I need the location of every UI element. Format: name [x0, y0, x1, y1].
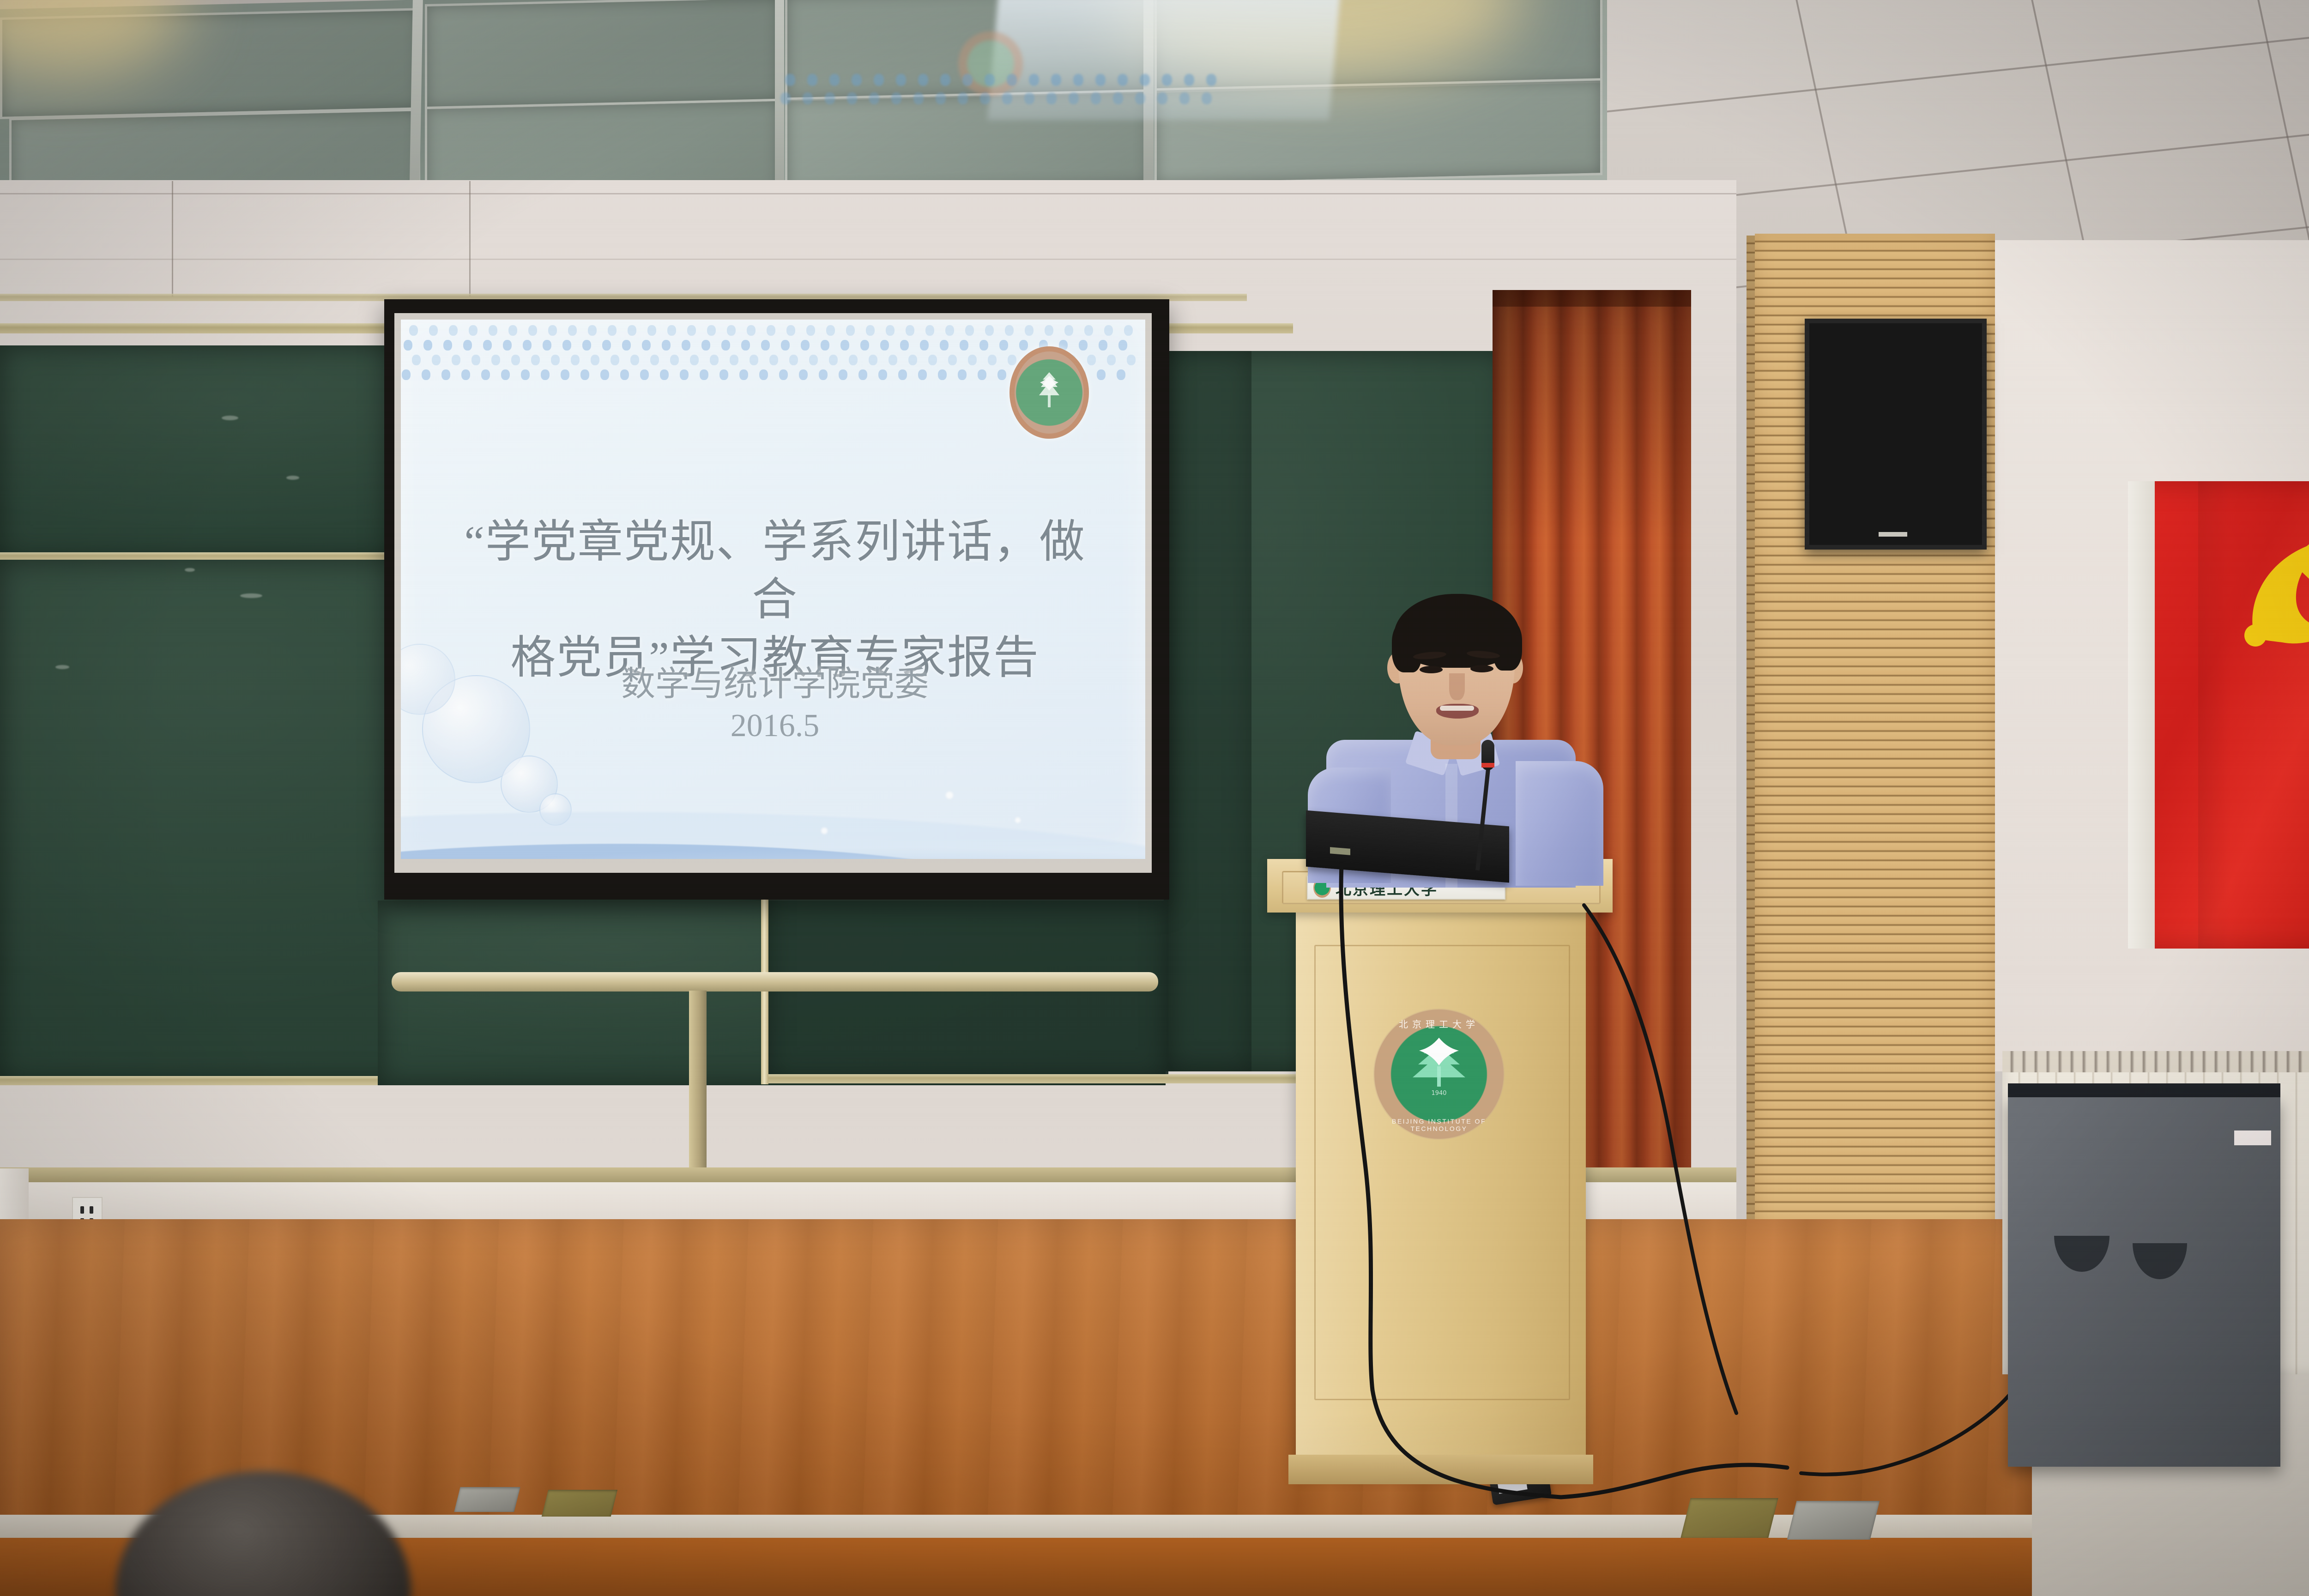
microphone-indicator-ring: [1481, 763, 1494, 768]
presentation-slide: “学党章党规、学系列讲话，做合 格党员”学习教育专家报告 数学与统计学院党委 2…: [401, 320, 1145, 859]
chalk-mark: [55, 665, 69, 669]
svg-text:1940: 1940: [1431, 1090, 1446, 1097]
slide-sparkle: [1015, 817, 1021, 823]
projection-screen-roller-bar[interactable]: [392, 972, 1158, 991]
speaker-eye-left: [1420, 666, 1443, 673]
speaker-hair-side-right: [1493, 621, 1522, 671]
projection-screen-surface: “学党章党规、学系列讲话，做合 格党员”学习教育专家报告 数学与统计学院党委 2…: [394, 313, 1152, 873]
pine-dove-glyph: 1940: [1404, 1029, 1474, 1103]
wall-panel-joint-right: [469, 181, 471, 296]
equipment-asset-label: [2234, 1130, 2271, 1145]
projected-dots-reflection-2: [780, 92, 1212, 104]
floor-outlet-left[interactable]: [454, 1487, 520, 1512]
podium-emblem-cn-text: 北京理工大学: [1374, 1017, 1504, 1030]
flag-fold-shadow-1: [2198, 481, 2230, 949]
hammer-and-sickle-icon: [2226, 530, 2309, 669]
hk-wall-speaker: [1805, 319, 1987, 550]
bit-podium-emblem-icon: 北京理工大学 BEIJING INSTITUTE OF TECHNOLOGY 1…: [1374, 1010, 1504, 1139]
floor-outlet-left-2[interactable]: [542, 1490, 617, 1517]
equipment-case: [2008, 1097, 2280, 1467]
wall-panel-joint-left: [172, 181, 173, 296]
speaker-shoulder-right: [1516, 761, 1603, 886]
flag-hoist-strip: [2128, 481, 2155, 949]
podium-emblem-en-text: BEIJING INSTITUTE OF TECHNOLOGY: [1374, 1118, 1504, 1132]
chalk-mark: [240, 593, 262, 598]
slide-wave-decoration-2: [401, 771, 1145, 859]
podium-base: [1288, 1455, 1593, 1484]
bit-emblem-icon: [1009, 346, 1089, 439]
projected-dots-reflection: [785, 74, 1216, 86]
lecture-hall-photo: QSC: [0, 0, 2309, 1596]
floor-outlet-right[interactable]: [1787, 1501, 1880, 1540]
slide-date: 2016.5: [447, 707, 1103, 744]
slide-sparkle: [821, 828, 828, 834]
curtain-rod-shadow: [1493, 290, 1691, 307]
slide-subtitle: 数学与统计学院党委: [447, 661, 1103, 708]
speaker-nose: [1449, 673, 1465, 700]
blackboard-right-shadowed: [1168, 351, 1251, 1071]
floor-outlet-center[interactable]: [1680, 1498, 1778, 1538]
pine-dove-glyph: [1028, 368, 1070, 417]
speaker-eye-right: [1470, 665, 1493, 672]
chalk-mark: [185, 568, 195, 572]
speaker-hair-side-left: [1392, 622, 1421, 672]
radiator-top-caps: [2002, 1051, 2309, 1072]
wall-seam-2: [0, 259, 1736, 260]
slide-title-line-1: “学党章党规、学系列讲话，做合: [447, 514, 1103, 629]
case-handle-right: [2133, 1243, 2187, 1279]
chalk-mark: [286, 476, 299, 480]
chalk-mark: [222, 416, 238, 420]
case-handle-left: [2054, 1236, 2110, 1272]
slide-sparkle: [946, 792, 953, 799]
speaker-teeth: [1440, 706, 1474, 711]
projection-screen: “学党章党规、学系列讲话，做合 格党员”学习教育专家报告 数学与统计学院党委 2…: [384, 299, 1169, 900]
wall-seam-1: [0, 193, 1736, 194]
hk-speaker-bottom-badge: [1879, 532, 1907, 537]
